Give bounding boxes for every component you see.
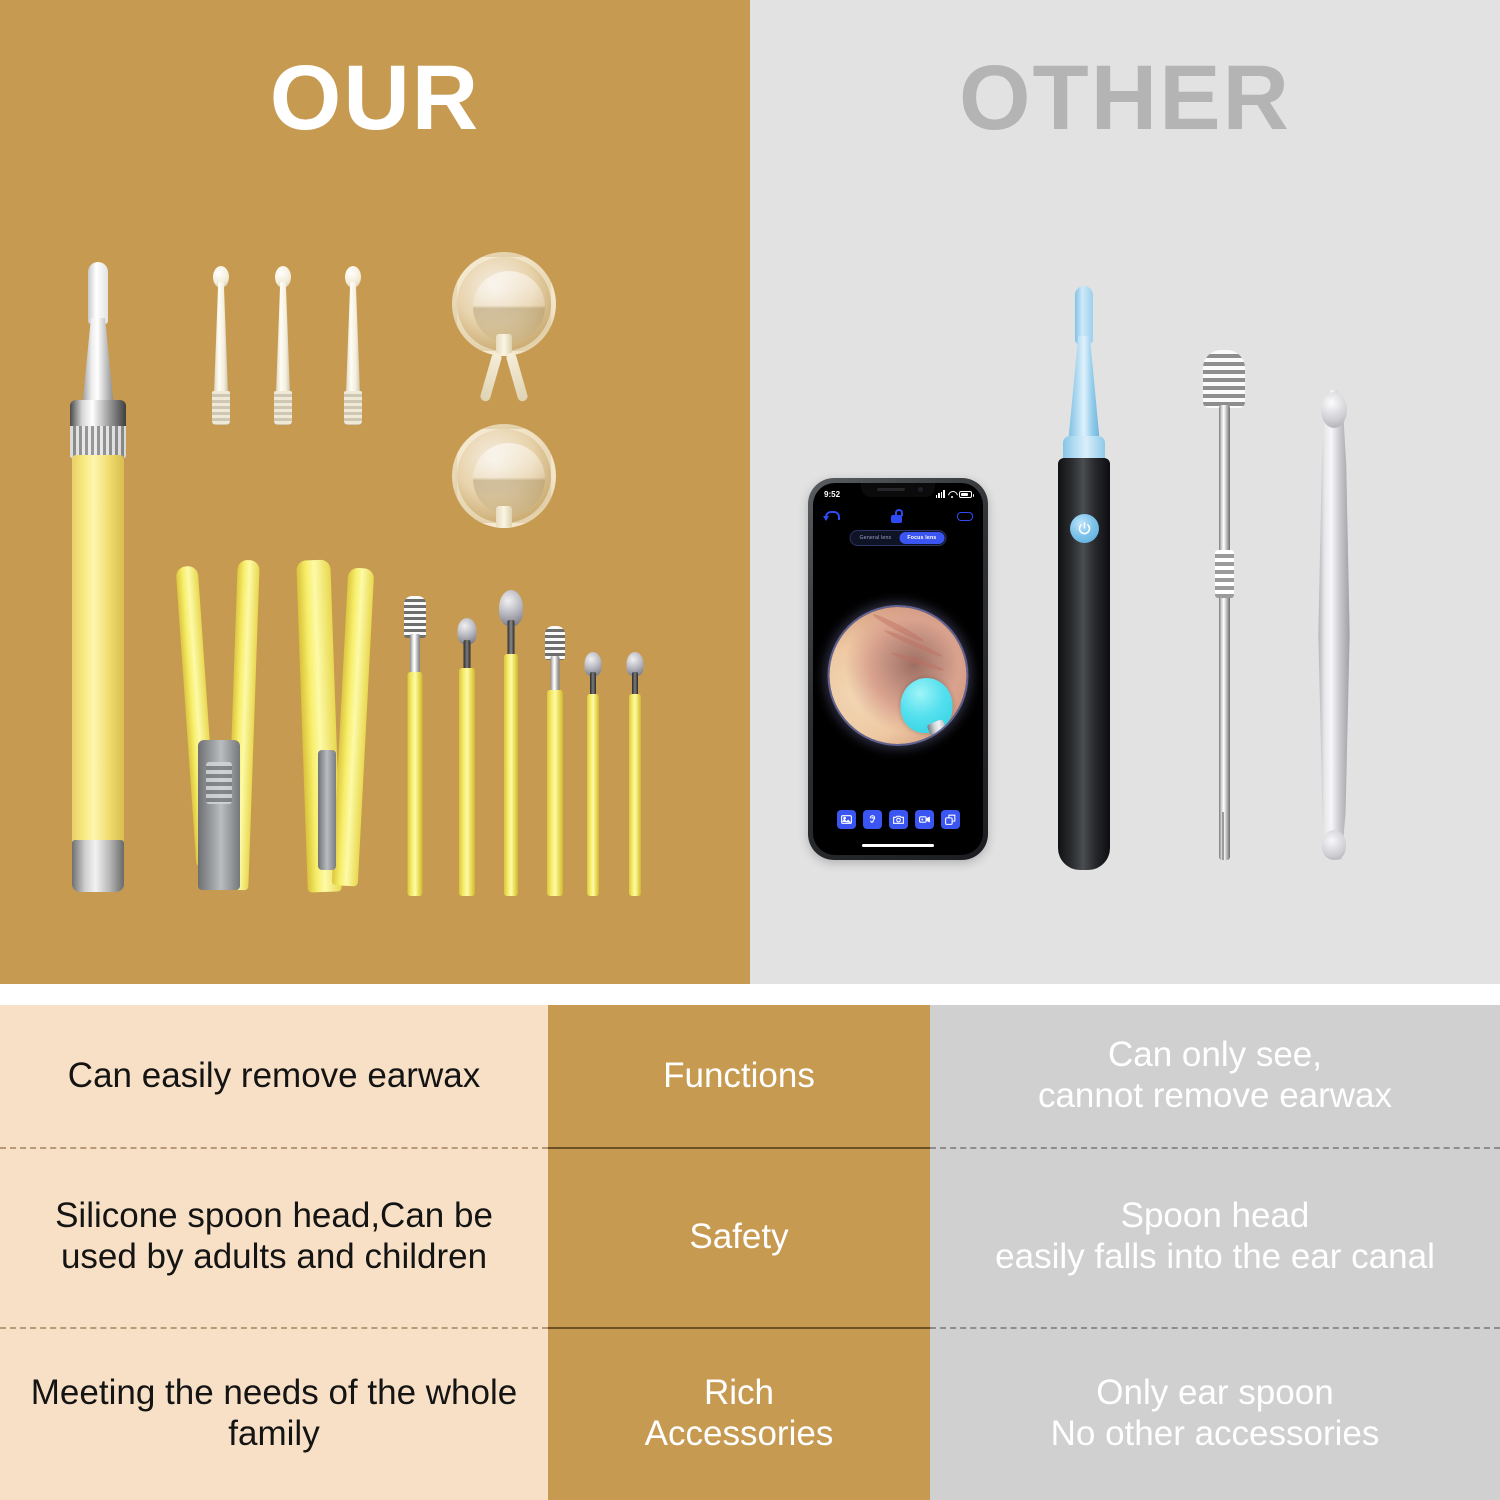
other-cell-accessories: Only ear spoon No other accessories	[930, 1327, 1500, 1500]
ear-pick-spiral	[400, 596, 430, 896]
signal-icon	[936, 490, 945, 498]
pick-yellow-stem	[547, 690, 563, 896]
cap-neck	[496, 506, 512, 528]
ear-pick-scoop-large	[496, 590, 526, 896]
tweezer-arm-right	[332, 568, 375, 887]
pen-metal-nose	[82, 318, 114, 408]
status-time: 9:52	[824, 490, 840, 499]
replacement-tip-3	[342, 266, 364, 426]
tip-shaft	[276, 282, 290, 394]
lens-cap-bottom	[452, 424, 556, 528]
our-cell-functions: Can easily remove earwax	[0, 1005, 548, 1147]
cap-inner	[473, 271, 545, 343]
spiral-head	[1203, 350, 1245, 408]
lens-mode-toggle[interactable]: General lens Focus lens	[850, 530, 947, 546]
replacement-tip-2	[272, 266, 294, 426]
hero-section: OUR	[0, 0, 1500, 984]
pen-yellow-body	[72, 455, 124, 850]
other-cell-functions: Can only see, cannot remove earwax	[930, 1005, 1500, 1147]
status-icons	[936, 490, 972, 498]
lens-option-focus[interactable]: Focus lens	[899, 532, 944, 544]
our-title: OUR	[0, 52, 750, 144]
ear-pick-scoop-small	[452, 618, 482, 896]
ear-icon[interactable]	[863, 810, 882, 829]
share-icon[interactable]	[941, 810, 960, 829]
steel-split-end	[1222, 812, 1224, 860]
feature-label-functions: Functions	[548, 1005, 930, 1147]
tweezer-grey-grip	[198, 740, 240, 890]
battery-status-icon[interactable]	[957, 512, 973, 521]
tip-thread	[274, 391, 292, 425]
app-top-bar	[813, 505, 983, 527]
other-title: OTHER	[750, 52, 1500, 144]
comparison-table: Can easily remove earwax Functions Can o…	[0, 1005, 1500, 1500]
pick-yellow-stem	[629, 694, 641, 896]
divider-right	[930, 1147, 1500, 1149]
curette-scoop-head	[1321, 392, 1347, 428]
pen-metal-collar	[70, 400, 126, 458]
ear-pick-brush	[540, 626, 570, 896]
unlock-icon[interactable]	[891, 509, 904, 523]
lens-option-general[interactable]: General lens	[852, 532, 900, 544]
home-indicator	[862, 844, 934, 848]
replacement-tip-1	[210, 266, 232, 426]
pen-silicone-tip	[88, 262, 108, 324]
lens-cap-top	[452, 252, 556, 356]
pick-neck	[508, 620, 515, 658]
divider-middle	[548, 1327, 930, 1329]
product-comparison-infographic: OUR	[0, 0, 1500, 1500]
tip-thread	[212, 391, 230, 425]
table-row: Meeting the needs of the whole family Ri…	[0, 1327, 1500, 1500]
divider-right	[930, 1327, 1500, 1329]
back-icon[interactable]	[823, 510, 838, 523]
pick-yellow-stem	[408, 672, 423, 896]
divider-left	[0, 1327, 548, 1329]
steel-curette-tool	[1317, 390, 1351, 860]
ear-pick-mini-2	[622, 652, 648, 896]
tip-shaft	[214, 282, 228, 394]
cap-fork	[486, 338, 522, 402]
tip-shaft	[346, 282, 360, 394]
blue-probe-tip	[901, 678, 953, 733]
phone-screen: 9:52 General lens	[813, 483, 983, 855]
battery-icon	[959, 491, 972, 498]
divider-left	[0, 1147, 548, 1149]
camera-icon[interactable]	[889, 810, 908, 829]
otoscope-silicone-tip	[1075, 286, 1093, 344]
tip-thread	[344, 391, 362, 425]
pick-yellow-stem	[587, 694, 599, 896]
pick-spiral-head	[404, 596, 426, 638]
steel-shaft	[1219, 405, 1230, 860]
power-button-icon[interactable]	[1070, 514, 1099, 543]
feature-label-accessories: Rich Accessories	[548, 1327, 930, 1500]
pick-yellow-stem	[504, 654, 518, 896]
our-panel: OUR	[0, 0, 750, 984]
curette-foot	[1322, 830, 1346, 860]
curette-blade	[1317, 390, 1351, 860]
pen-metal-base	[72, 840, 124, 892]
ear-pick-mini-1	[580, 652, 606, 896]
table-row: Silicone spoon head,Can be used by adult…	[0, 1147, 1500, 1327]
gallery-icon[interactable]	[837, 810, 856, 829]
pick-steel-shaft	[551, 656, 560, 694]
ear-canal-camera-view	[830, 607, 967, 744]
divider-middle	[548, 1147, 930, 1149]
feature-label-safety: Safety	[548, 1147, 930, 1327]
pick-yellow-stem	[459, 668, 475, 896]
phone-mockup: 9:52 General lens	[808, 478, 988, 860]
video-icon[interactable]	[915, 810, 934, 829]
wifi-icon	[948, 491, 956, 498]
lock-body	[891, 515, 902, 523]
app-bottom-toolbar	[813, 810, 983, 829]
tweezer-inner-blade	[318, 750, 336, 870]
our-cell-safety: Silicone spoon head,Can be used by adult…	[0, 1147, 548, 1327]
phone-status-bar: 9:52	[813, 487, 983, 501]
cap-inner	[473, 443, 545, 515]
steel-rings	[1215, 550, 1234, 598]
pick-steel-shaft	[410, 634, 420, 676]
table-row: Can easily remove earwax Functions Can o…	[0, 1005, 1500, 1147]
our-cell-accessories: Meeting the needs of the whole family	[0, 1327, 548, 1500]
pick-brush-head	[545, 626, 565, 660]
other-cell-safety: Spoon head easily falls into the ear can…	[930, 1147, 1500, 1327]
